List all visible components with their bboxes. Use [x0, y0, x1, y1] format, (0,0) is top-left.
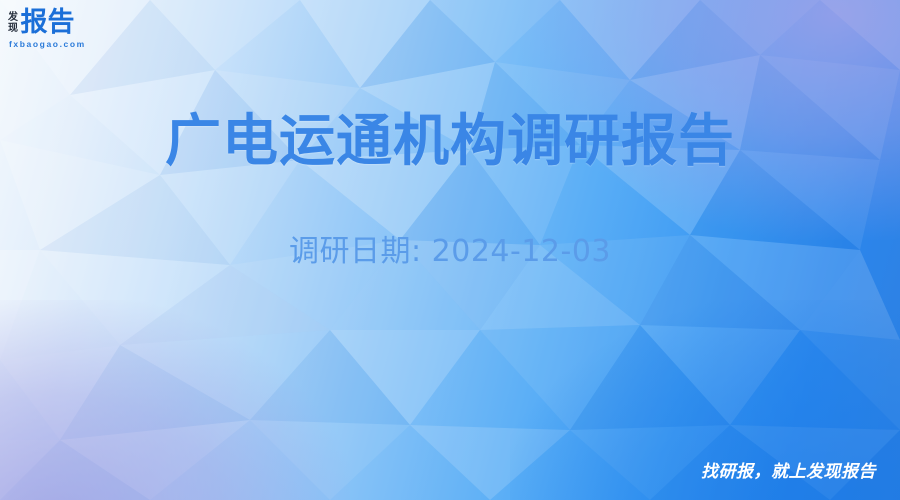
report-cover: 发 现 报告 fxbaogao.com 广电运通机构调研报告 调研日期: 202… — [0, 0, 900, 500]
footer-slogan: 找研报，就上发现报告 — [701, 457, 876, 482]
survey-date: 调研日期: 2024-12-03 — [289, 226, 611, 270]
cover-center-block: 广电运通机构调研报告 调研日期: 2024-12-03 — [0, 0, 900, 380]
page-title: 广电运通机构调研报告 — [165, 110, 735, 174]
